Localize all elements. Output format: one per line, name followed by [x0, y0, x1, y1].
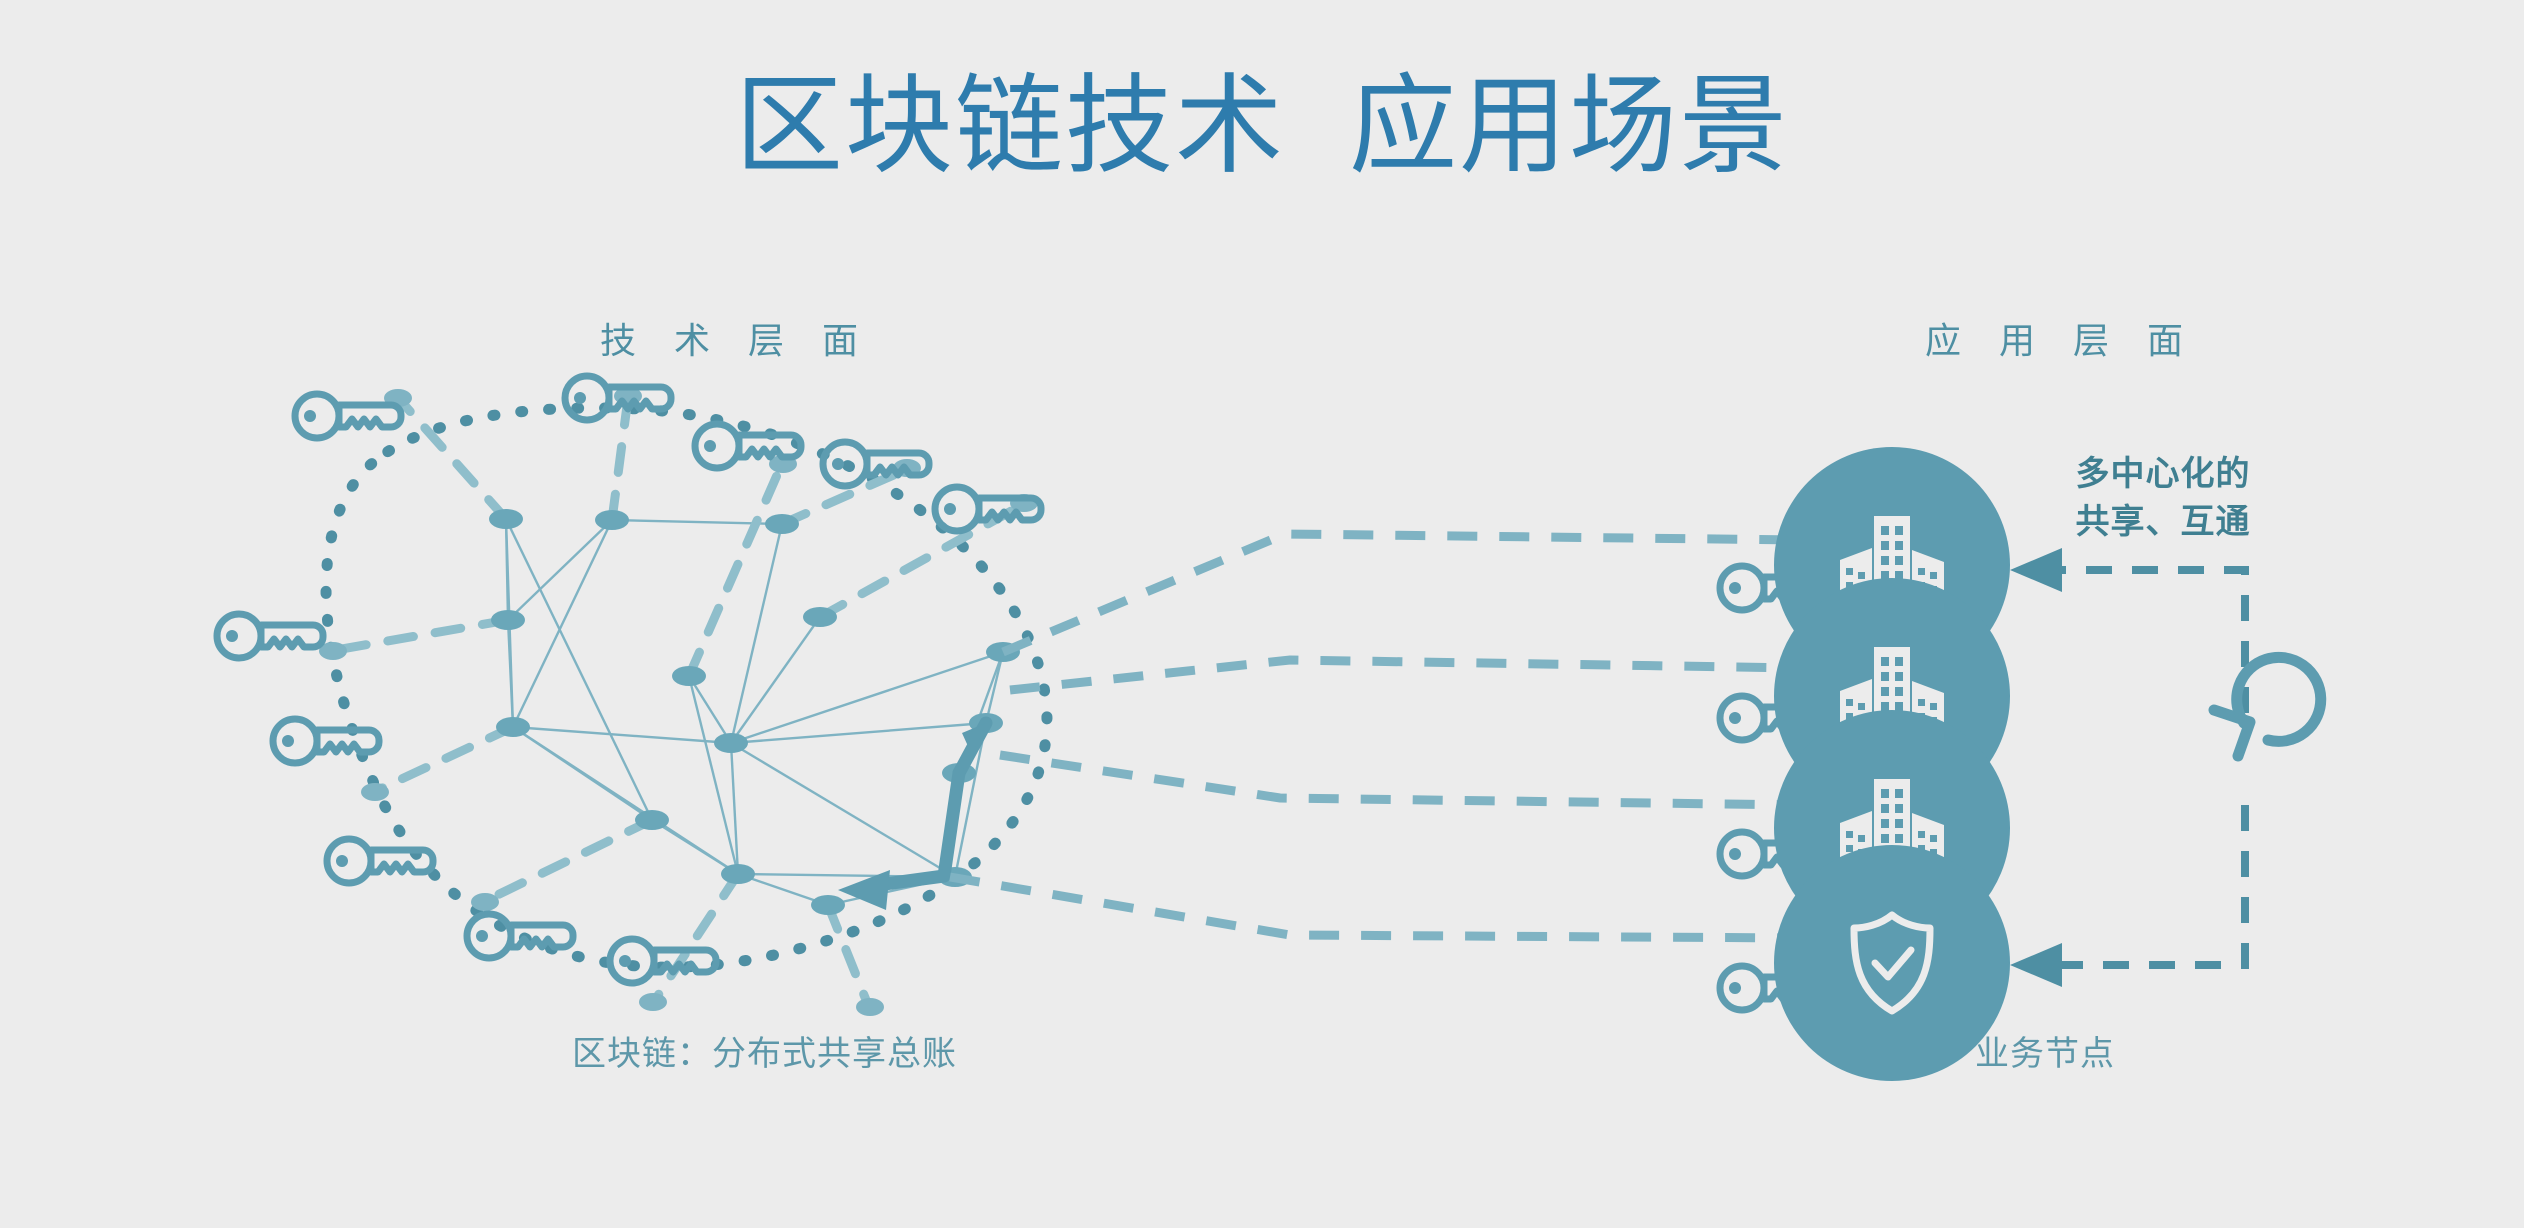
network-node-dot [714, 733, 748, 753]
network-node-dot [811, 895, 845, 915]
network-node-dot [803, 607, 837, 627]
network-node-dot [489, 509, 523, 529]
network-node-dot [595, 510, 629, 530]
infographic-canvas: 区块链技术 应用场景 技 术 层 面 应 用 层 面 多中心化的 共享、互通 区… [0, 0, 2524, 1228]
callout-text: 多中心化的 共享、互通 [2048, 450, 2278, 547]
caption-blockchain: 区块链：分布式共享总账 [572, 1026, 957, 1075]
network-node-dot [491, 610, 525, 630]
page-title: 区块链技术 应用场景 [0, 62, 2524, 189]
network-node-dot [496, 717, 530, 737]
network-node-dot [721, 864, 755, 884]
network-node-dot [672, 666, 706, 686]
section-label-tech: 技 术 层 面 [600, 312, 872, 364]
caption-business-node: 业务节点 [1975, 1026, 2115, 1075]
section-label-app: 应 用 层 面 [1925, 312, 2197, 364]
network-node-dot [765, 514, 799, 534]
business-node-group [1774, 447, 2010, 1081]
network-node-dot [635, 810, 669, 830]
